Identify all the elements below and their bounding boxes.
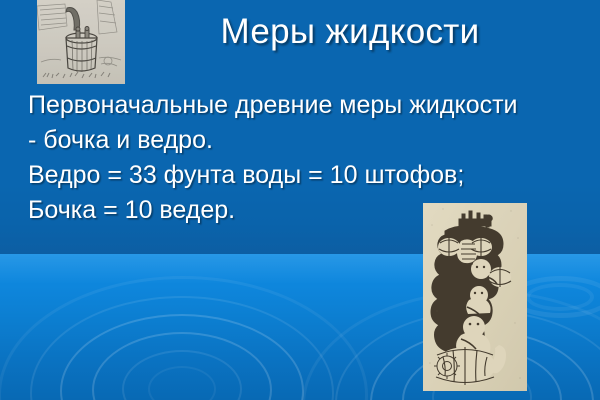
- body-line: Бочка = 10 ведер.: [28, 193, 578, 228]
- body-line: Ведро = 33 фунта воды = 10 штофов;: [28, 158, 578, 193]
- body-line: Первоначальные древние меры жидкости: [28, 88, 578, 123]
- image-pencil-sketch-bucket: [37, 0, 125, 84]
- body-line: - бочка и ведро.: [28, 123, 578, 158]
- woodcut-artwork: [423, 203, 527, 391]
- image-woodcut-barrels: [423, 203, 527, 391]
- slide-body: Первоначальные древние меры жидкости - б…: [28, 88, 578, 228]
- slide-title: Меры жидкости: [140, 10, 560, 54]
- presentation-slide: Меры жидкости Первоначальные древние мер…: [0, 0, 600, 400]
- sketch-artwork: [37, 0, 125, 84]
